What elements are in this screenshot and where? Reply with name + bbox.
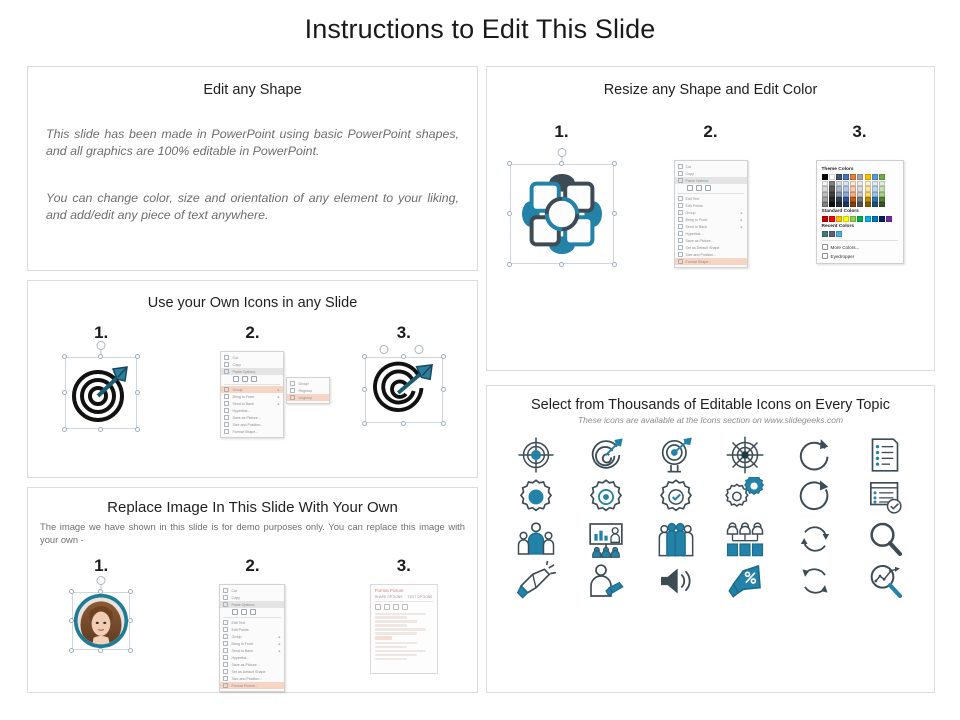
rotate-handle[interactable] <box>557 148 566 157</box>
own-icons-step-3: 3. <box>334 323 474 438</box>
more-colors-item[interactable]: More Colors... <box>822 244 898 250</box>
chevron-right-icon: ▸ <box>279 642 281 646</box>
speaker-icon <box>656 561 696 601</box>
menu-item-label: Hyperlink... <box>232 409 250 413</box>
paste-option-icon[interactable] <box>232 609 238 615</box>
context-menu-item[interactable]: Group▸ <box>221 386 283 393</box>
icon-grid <box>487 425 934 609</box>
menu-item-label: Save as Picture... <box>231 663 259 667</box>
resize-step-2: 2. CutCopyPaste Options:Edit TextEdit Po… <box>636 122 785 268</box>
theme-colors-shade-grid[interactable] <box>822 181 898 207</box>
context-menu-item[interactable]: Edit Text <box>675 195 747 202</box>
color-shade-column[interactable] <box>822 181 828 207</box>
menu-item-icon <box>678 171 683 176</box>
color-swatch[interactable] <box>822 174 828 180</box>
paste-option-icon[interactable] <box>687 185 693 191</box>
menu-item-label: Group <box>298 382 308 386</box>
tab-shape-options[interactable]: SHAPE OPTIONS <box>375 595 403 599</box>
divider <box>822 240 898 241</box>
context-menu-shape[interactable]: CutCopyPaste Options:Edit TextEdit Point… <box>674 160 748 268</box>
color-swatch[interactable] <box>850 174 856 180</box>
menu-item-label: Regroup <box>298 389 312 393</box>
icon-cell[interactable] <box>641 519 711 559</box>
icon-cell[interactable] <box>501 519 571 559</box>
eyedropper-icon <box>822 253 828 259</box>
context-menu-item[interactable]: Copy <box>220 594 284 601</box>
menu-item-icon <box>224 401 229 406</box>
target-dart-icon-ungrouped[interactable] <box>365 357 443 423</box>
context-menu-item[interactable]: Send to Back▸ <box>220 647 284 654</box>
menu-item-icon <box>678 164 683 169</box>
eyedropper-item[interactable]: Eyedropper <box>822 253 898 259</box>
context-submenu-group[interactable]: GroupRegroupUngroup <box>286 377 330 404</box>
context-menu-item[interactable]: Format Shape... <box>221 428 283 435</box>
menu-item-label: Send to Back <box>686 225 707 229</box>
menu-item-label: Format Shape... <box>686 260 712 264</box>
eyedropper-label: Eyedropper <box>831 254 855 259</box>
rotate-handle-dart[interactable] <box>415 345 424 354</box>
context-menu-picture[interactable]: CutCopyPaste Options:Edit TextEdit Point… <box>219 584 285 692</box>
resize-handle-s[interactable] <box>98 427 103 432</box>
team-hierarchy-icon <box>725 519 765 559</box>
menu-item-icon <box>223 641 228 646</box>
replace-image-step-3: 3. Format Picture SHAPE OPTIONS TEXT OPT… <box>334 556 474 692</box>
color-swatch[interactable] <box>843 174 849 180</box>
color-swatch[interactable] <box>829 174 835 180</box>
context-menu-item[interactable]: Group▸ <box>220 633 284 640</box>
icon-cell[interactable] <box>571 519 641 559</box>
color-swatch[interactable] <box>836 202 842 207</box>
target-dart-icon-selected[interactable] <box>65 357 137 429</box>
palette-icon <box>822 244 828 250</box>
megaphone-icon <box>516 561 556 601</box>
chevron-right-icon: ▸ <box>278 395 280 399</box>
menu-item-icon <box>678 252 683 257</box>
menu-item-icon <box>223 588 228 593</box>
menu-item-label: Edit Points <box>686 204 703 208</box>
menu-item-icon <box>224 355 229 360</box>
color-swatch[interactable] <box>857 174 863 180</box>
menu-item-label: Paste Options: <box>231 603 255 607</box>
step-number: 3. <box>397 323 411 343</box>
portrait-photo <box>73 593 129 649</box>
color-swatch[interactable] <box>843 202 849 207</box>
chevron-right-icon: ▸ <box>741 225 743 229</box>
paste-options-icons[interactable] <box>675 184 747 192</box>
menu-item-label: Copy <box>231 596 239 600</box>
context-menu-item[interactable]: Regroup <box>287 387 329 394</box>
context-menu-item[interactable]: Bring to Front▸ <box>221 393 283 400</box>
menu-item-icon <box>224 369 229 374</box>
icon-cell[interactable] <box>780 477 850 517</box>
edit-shape-paragraph-1: This slide has been made in PowerPoint u… <box>46 126 459 160</box>
context-menu-item[interactable]: Hyperlink... <box>220 654 284 661</box>
step-number: 1. <box>94 556 108 576</box>
color-swatch[interactable] <box>872 216 878 222</box>
menu-item-label: Send to Back <box>232 402 253 406</box>
context-menu-item[interactable]: Hyperlink... <box>675 230 747 237</box>
effects-icon[interactable] <box>384 604 390 610</box>
chevron-right-icon: ▸ <box>741 218 743 222</box>
own-icons-step-2: 2. CutCopyPaste Options:Group▸Bring to F… <box>177 323 327 438</box>
icon-cell[interactable] <box>711 435 781 475</box>
menu-item-icon <box>678 238 683 243</box>
menu-item-icon <box>223 683 228 688</box>
color-swatch[interactable] <box>850 216 856 222</box>
format-picture-pane[interactable]: Format Picture SHAPE OPTIONS TEXT OPTION… <box>370 584 438 674</box>
icon-cell[interactable] <box>711 519 781 559</box>
menu-item-icon <box>223 627 228 632</box>
step-number: 1. <box>94 323 108 343</box>
rotate-handle[interactable] <box>97 341 106 350</box>
menu-item-icon <box>223 676 228 681</box>
color-swatch[interactable] <box>879 216 885 222</box>
panel-title-replace-image: Replace Image In This Slide With Your Ow… <box>28 499 477 516</box>
menu-item-icon <box>224 394 229 399</box>
resize-handle-se[interactable] <box>612 262 617 267</box>
menu-item-label: Send to Back <box>231 649 252 653</box>
menu-item-label: Copy <box>686 172 694 176</box>
menu-item-label: Save as Picture... <box>686 239 714 243</box>
menu-item-icon <box>290 388 295 393</box>
resize-step-1: 1. <box>487 122 636 268</box>
target-flag-icon <box>656 435 696 475</box>
color-swatch[interactable] <box>872 174 878 180</box>
context-menu-item[interactable]: Cut <box>220 587 284 594</box>
menu-item-label: Copy <box>232 363 240 367</box>
context-menu-item[interactable]: Send to Back▸ <box>675 223 747 230</box>
menu-item-icon <box>290 395 295 400</box>
paste-option-icon[interactable] <box>705 185 711 191</box>
paste-option-icon[interactable] <box>242 376 248 382</box>
panel-replace-image: Replace Image In This Slide With Your Ow… <box>27 487 478 693</box>
format-option-row <box>375 620 417 622</box>
color-swatch[interactable] <box>879 202 885 207</box>
edit-shape-paragraph-2: You can change color, size and orientati… <box>46 190 459 224</box>
standard-colors-row[interactable] <box>822 216 898 222</box>
menu-item-icon <box>224 422 229 427</box>
context-menu-item[interactable]: Set as Default Shape <box>220 668 284 675</box>
megaphone-percent-icon <box>725 561 765 601</box>
icon-cell[interactable] <box>780 435 850 475</box>
menu-item-label: Size and Position... <box>231 677 262 681</box>
magnifier-icon <box>865 519 905 559</box>
menu-item-label: Paste Options: <box>686 179 710 183</box>
icon-cell[interactable] <box>711 477 781 517</box>
format-option-row <box>375 624 407 626</box>
resize-handle-e[interactable] <box>612 211 617 216</box>
resize-handle-nw[interactable] <box>507 161 512 166</box>
resize-handle-sw[interactable] <box>507 262 512 267</box>
step-number: 2. <box>703 122 717 142</box>
panel-title-edit-shape: Edit any Shape <box>28 82 477 98</box>
paste-options-icons[interactable] <box>221 375 283 383</box>
context-menu-item[interactable]: Group▸ <box>675 209 747 216</box>
context-menu-item[interactable]: Ungroup <box>287 394 329 401</box>
color-swatch[interactable] <box>836 216 842 222</box>
portrait-photo-selected[interactable] <box>72 592 130 650</box>
rotate-handle[interactable] <box>97 576 106 585</box>
replace-image-subtitle: The image we have shown in this slide is… <box>40 520 465 546</box>
tab-text-options[interactable]: TEXT OPTIONS <box>408 595 433 599</box>
color-swatch[interactable] <box>836 231 842 237</box>
context-menu-item[interactable]: Edit Points <box>675 202 747 209</box>
context-menu-item[interactable]: Bring to Front▸ <box>675 216 747 223</box>
resize-handle-e[interactable] <box>135 390 140 395</box>
menu-item-icon <box>223 620 228 625</box>
icon-cell[interactable] <box>850 477 920 517</box>
context-menu-item[interactable]: Paste Options: <box>220 601 284 608</box>
panel-use-own-icons: Use your Own Icons in any Slide 1. <box>27 280 478 478</box>
fill-icon[interactable] <box>375 604 381 610</box>
context-menu-item[interactable]: Edit Points <box>220 626 284 633</box>
context-menu-item[interactable]: Set as Default Shape <box>675 244 747 251</box>
color-swatch[interactable] <box>850 202 856 207</box>
icon-cell[interactable] <box>501 561 571 601</box>
resize-handle-nw[interactable] <box>362 354 367 359</box>
menu-item-label: Edit Text <box>686 197 700 201</box>
menu-item-label: Save as Picture... <box>232 416 260 420</box>
menu-item-icon <box>678 217 683 222</box>
refresh-arrow-icon <box>795 435 835 475</box>
color-swatch[interactable] <box>857 202 863 207</box>
menu-item-icon <box>678 178 683 183</box>
color-shade-column[interactable] <box>829 181 835 207</box>
menu-item-icon <box>678 224 683 229</box>
context-menu-item[interactable]: Cut <box>675 163 747 170</box>
context-menu-item[interactable]: Save as Picture... <box>221 414 283 421</box>
gear-solid-icon <box>516 477 556 517</box>
menu-item-icon <box>224 415 229 420</box>
context-menu-item[interactable]: Send to Back▸ <box>221 400 283 407</box>
paste-option-icon[interactable] <box>251 376 257 382</box>
step-number: 3. <box>397 556 411 576</box>
color-swatch[interactable] <box>829 216 835 222</box>
icon-cell[interactable] <box>780 519 850 559</box>
color-swatch[interactable] <box>829 202 835 207</box>
chevron-right-icon: ▸ <box>278 402 280 406</box>
presentation-team-icon <box>586 519 626 559</box>
format-option-row <box>375 658 407 660</box>
recent-colors-row[interactable] <box>822 231 898 237</box>
menu-item-label: Size and Position... <box>232 423 263 427</box>
panel-icons-library: Select from Thousands of Editable Icons … <box>486 385 935 693</box>
paste-option-icon[interactable] <box>241 609 247 615</box>
chevron-right-icon: ▸ <box>279 649 281 653</box>
resize-handle-e[interactable] <box>441 387 446 392</box>
color-swatch[interactable] <box>857 216 863 222</box>
resize-handle-ne[interactable] <box>135 354 140 359</box>
icon-cell[interactable] <box>711 561 781 601</box>
menu-item-icon <box>223 655 228 660</box>
color-swatch[interactable] <box>829 231 835 237</box>
panel-title-resize-shape: Resize any Shape and Edit Color <box>487 82 934 98</box>
menu-item-icon <box>223 648 228 653</box>
group-people-icon <box>656 519 696 559</box>
picture-icon[interactable] <box>402 604 408 610</box>
menu-item-icon <box>678 259 683 264</box>
magnifier-chart-icon <box>865 561 905 601</box>
format-option-row <box>375 642 417 644</box>
menu-item-label: Hyperlink... <box>231 656 249 660</box>
context-menu-item[interactable]: Hyperlink... <box>221 407 283 414</box>
resize-handle-se[interactable] <box>135 427 140 432</box>
context-menu-item[interactable]: Bring to Front▸ <box>220 640 284 647</box>
color-swatch[interactable] <box>886 216 892 222</box>
color-swatch[interactable] <box>843 216 849 222</box>
color-shade-column[interactable] <box>850 181 856 207</box>
color-shade-column[interactable] <box>872 181 878 207</box>
menu-item-label: Ungroup <box>298 396 312 400</box>
format-option-row <box>375 613 426 615</box>
panel-edit-any-shape: Edit any Shape This slide has been made … <box>27 66 478 271</box>
menu-item-label: Bring to Front <box>686 218 708 222</box>
resize-handle-n[interactable] <box>559 161 564 166</box>
menu-item-icon <box>678 196 683 201</box>
context-menu-item[interactable]: Copy <box>675 170 747 177</box>
menu-item-icon <box>224 362 229 367</box>
context-menu-item[interactable]: Size and Position... <box>221 421 283 428</box>
icon-cell[interactable] <box>641 477 711 517</box>
team-leader-icon <box>516 519 556 559</box>
menu-item-icon <box>223 662 228 667</box>
resize-handle-s[interactable] <box>559 262 564 267</box>
color-picker-panel[interactable]: Theme Colors Standard Colors Recent Colo… <box>816 160 904 264</box>
menu-item-label: Edit Text <box>231 621 245 625</box>
rotate-handle-target[interactable] <box>379 345 388 354</box>
chevron-right-icon: ▸ <box>279 635 281 639</box>
icon-cell[interactable] <box>780 561 850 601</box>
format-pane-icon-row <box>375 604 433 610</box>
context-menu-item[interactable]: Size and Position... <box>220 675 284 682</box>
resize-handle-s[interactable] <box>401 421 406 426</box>
replace-image-step-2: 2. CutCopyPaste Options:Edit TextEdit Po… <box>177 556 327 692</box>
menu-item-label: Cut <box>686 165 692 169</box>
context-menu-item[interactable]: Copy <box>221 361 283 368</box>
menu-item-label: Group <box>232 388 242 392</box>
context-menu-item[interactable]: Save as Picture... <box>220 661 284 668</box>
quadrant-shape-selected[interactable] <box>510 164 614 264</box>
color-shade-column[interactable] <box>843 181 849 207</box>
color-swatch[interactable] <box>872 202 878 207</box>
paste-options-icons[interactable] <box>220 608 284 616</box>
menu-item-label: Paste Options: <box>232 370 256 374</box>
color-shade-column[interactable] <box>879 181 885 207</box>
menu-item-icon <box>290 381 295 386</box>
color-swatch[interactable] <box>822 216 828 222</box>
resize-handle-sw[interactable] <box>62 427 67 432</box>
color-swatch[interactable] <box>822 202 828 207</box>
icon-cell[interactable] <box>571 477 641 517</box>
menu-item-icon <box>224 408 229 413</box>
resize-step-3: 3. Theme Colors Standard Colors Recent C… <box>785 122 934 268</box>
format-option-row <box>375 646 407 648</box>
step-number: 2. <box>245 556 259 576</box>
icon-cell[interactable] <box>850 519 920 559</box>
crosshair-dot-icon <box>725 435 765 475</box>
replace-image-step-1: 1. <box>31 556 171 692</box>
quadrant-shape-icon <box>516 170 608 258</box>
sync-arrows-icon <box>795 519 835 559</box>
menu-item-label: Group <box>686 211 696 215</box>
menu-item-label: Format Picture... <box>231 684 258 688</box>
color-swatch[interactable] <box>822 231 828 237</box>
context-menu-item[interactable]: Format Picture... <box>220 682 284 689</box>
color-swatch[interactable] <box>865 174 871 180</box>
menu-item-icon <box>678 210 683 215</box>
menu-item-label: Set as Default Shape <box>686 246 720 250</box>
resize-handle-sw[interactable] <box>362 421 367 426</box>
resize-handle-w[interactable] <box>507 211 512 216</box>
resize-handle-w[interactable] <box>362 387 367 392</box>
color-swatch[interactable] <box>865 216 871 222</box>
resize-handle-ne[interactable] <box>441 354 446 359</box>
context-menu-item[interactable]: Size and Position... <box>675 251 747 258</box>
menu-item-icon <box>224 429 229 434</box>
paste-option-icon[interactable] <box>233 376 239 382</box>
resize-handle-ne[interactable] <box>612 161 617 166</box>
gears-double-icon <box>725 477 765 517</box>
size-icon[interactable] <box>393 604 399 610</box>
icons-library-subtitle: These icons are available at the Icons s… <box>487 415 934 425</box>
slide-canvas: Instructions to Edit This Slide Edit any… <box>0 0 960 720</box>
format-option-active[interactable] <box>375 636 392 640</box>
own-icons-step-1: 1. <box>31 323 171 438</box>
menu-item-icon <box>678 231 683 236</box>
icon-cell[interactable] <box>850 435 920 475</box>
context-menu-item[interactable]: Group <box>287 380 329 387</box>
context-menu-item[interactable]: Paste Options: <box>675 177 747 184</box>
menu-item-label: Group <box>231 635 241 639</box>
chevron-right-icon: ▸ <box>741 211 743 215</box>
color-shade-column[interactable] <box>857 181 863 207</box>
menu-separator <box>224 384 280 385</box>
icon-cell[interactable] <box>501 435 571 475</box>
gear-dot-icon <box>586 477 626 517</box>
icon-cell[interactable] <box>641 435 711 475</box>
format-pane-tabs: SHAPE OPTIONS TEXT OPTIONS <box>375 595 433 602</box>
icon-cell[interactable] <box>501 477 571 517</box>
icon-cell[interactable] <box>850 561 920 601</box>
target-dart-icon <box>69 361 133 425</box>
menu-item-label: Cut <box>231 589 237 593</box>
context-menu-item[interactable]: Edit Text <box>220 619 284 626</box>
resize-handle-se[interactable] <box>441 421 446 426</box>
format-pane-title: Format Picture <box>375 588 433 593</box>
icon-cell[interactable] <box>571 561 641 601</box>
icon-cell[interactable] <box>641 561 711 601</box>
paste-option-icon[interactable] <box>250 609 256 615</box>
context-menu-item[interactable]: Save as Picture... <box>675 237 747 244</box>
menu-item-label: Bring to Front <box>232 395 254 399</box>
color-swatch[interactable] <box>865 202 871 207</box>
paste-option-icon[interactable] <box>696 185 702 191</box>
color-swatch[interactable] <box>879 174 885 180</box>
context-menu-item[interactable]: Cut <box>221 354 283 361</box>
context-menu-item[interactable]: Format Shape... <box>675 258 747 265</box>
menu-item-label: Cut <box>232 356 238 360</box>
icon-cell[interactable] <box>571 435 641 475</box>
theme-colors-top-row[interactable] <box>822 174 898 180</box>
color-swatch[interactable] <box>836 174 842 180</box>
checklist-check-icon <box>865 477 905 517</box>
color-shade-column[interactable] <box>836 181 842 207</box>
color-shade-column[interactable] <box>865 181 871 207</box>
format-option-row <box>375 616 407 618</box>
context-menu-item[interactable]: Paste Options: <box>221 368 283 375</box>
panel-resize-shape: Resize any Shape and Edit Color 1. <box>486 66 935 371</box>
context-menu-icons[interactable]: CutCopyPaste Options:Group▸Bring to Fron… <box>220 351 284 438</box>
